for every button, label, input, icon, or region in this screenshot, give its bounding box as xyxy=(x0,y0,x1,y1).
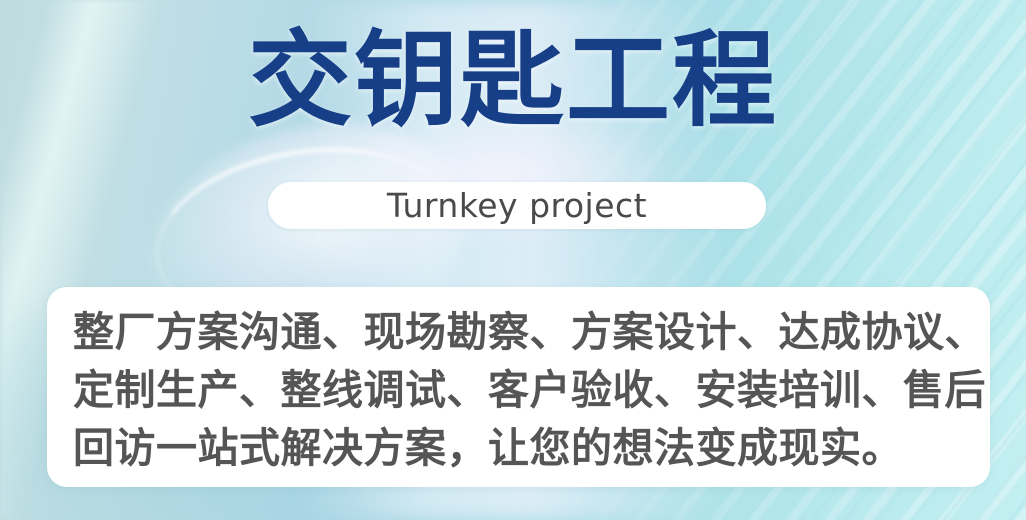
turnkey-project-banner: 交钥匙工程 Turnkey project 整厂方案沟通、现场勘察、方案设计、达… xyxy=(0,0,1026,520)
subtitle-text: Turnkey project xyxy=(387,188,647,224)
body-text: 整厂方案沟通、现场勘察、方案设计、达成协议、 定制生产、整线调试、客户验收、安装… xyxy=(73,303,964,477)
banner-title: 交钥匙工程 xyxy=(0,16,1026,144)
body-card: 整厂方案沟通、现场勘察、方案设计、达成协议、 定制生产、整线调试、客户验收、安装… xyxy=(47,287,990,487)
body-line-2: 定制生产、整线调试、客户验收、安装培训、售后 xyxy=(73,361,964,419)
body-line-3: 回访一站式解决方案，让您的想法变成现实。 xyxy=(73,419,964,477)
body-line-1: 整厂方案沟通、现场勘察、方案设计、达成协议、 xyxy=(73,303,964,361)
subtitle-pill: Turnkey project xyxy=(268,182,766,229)
